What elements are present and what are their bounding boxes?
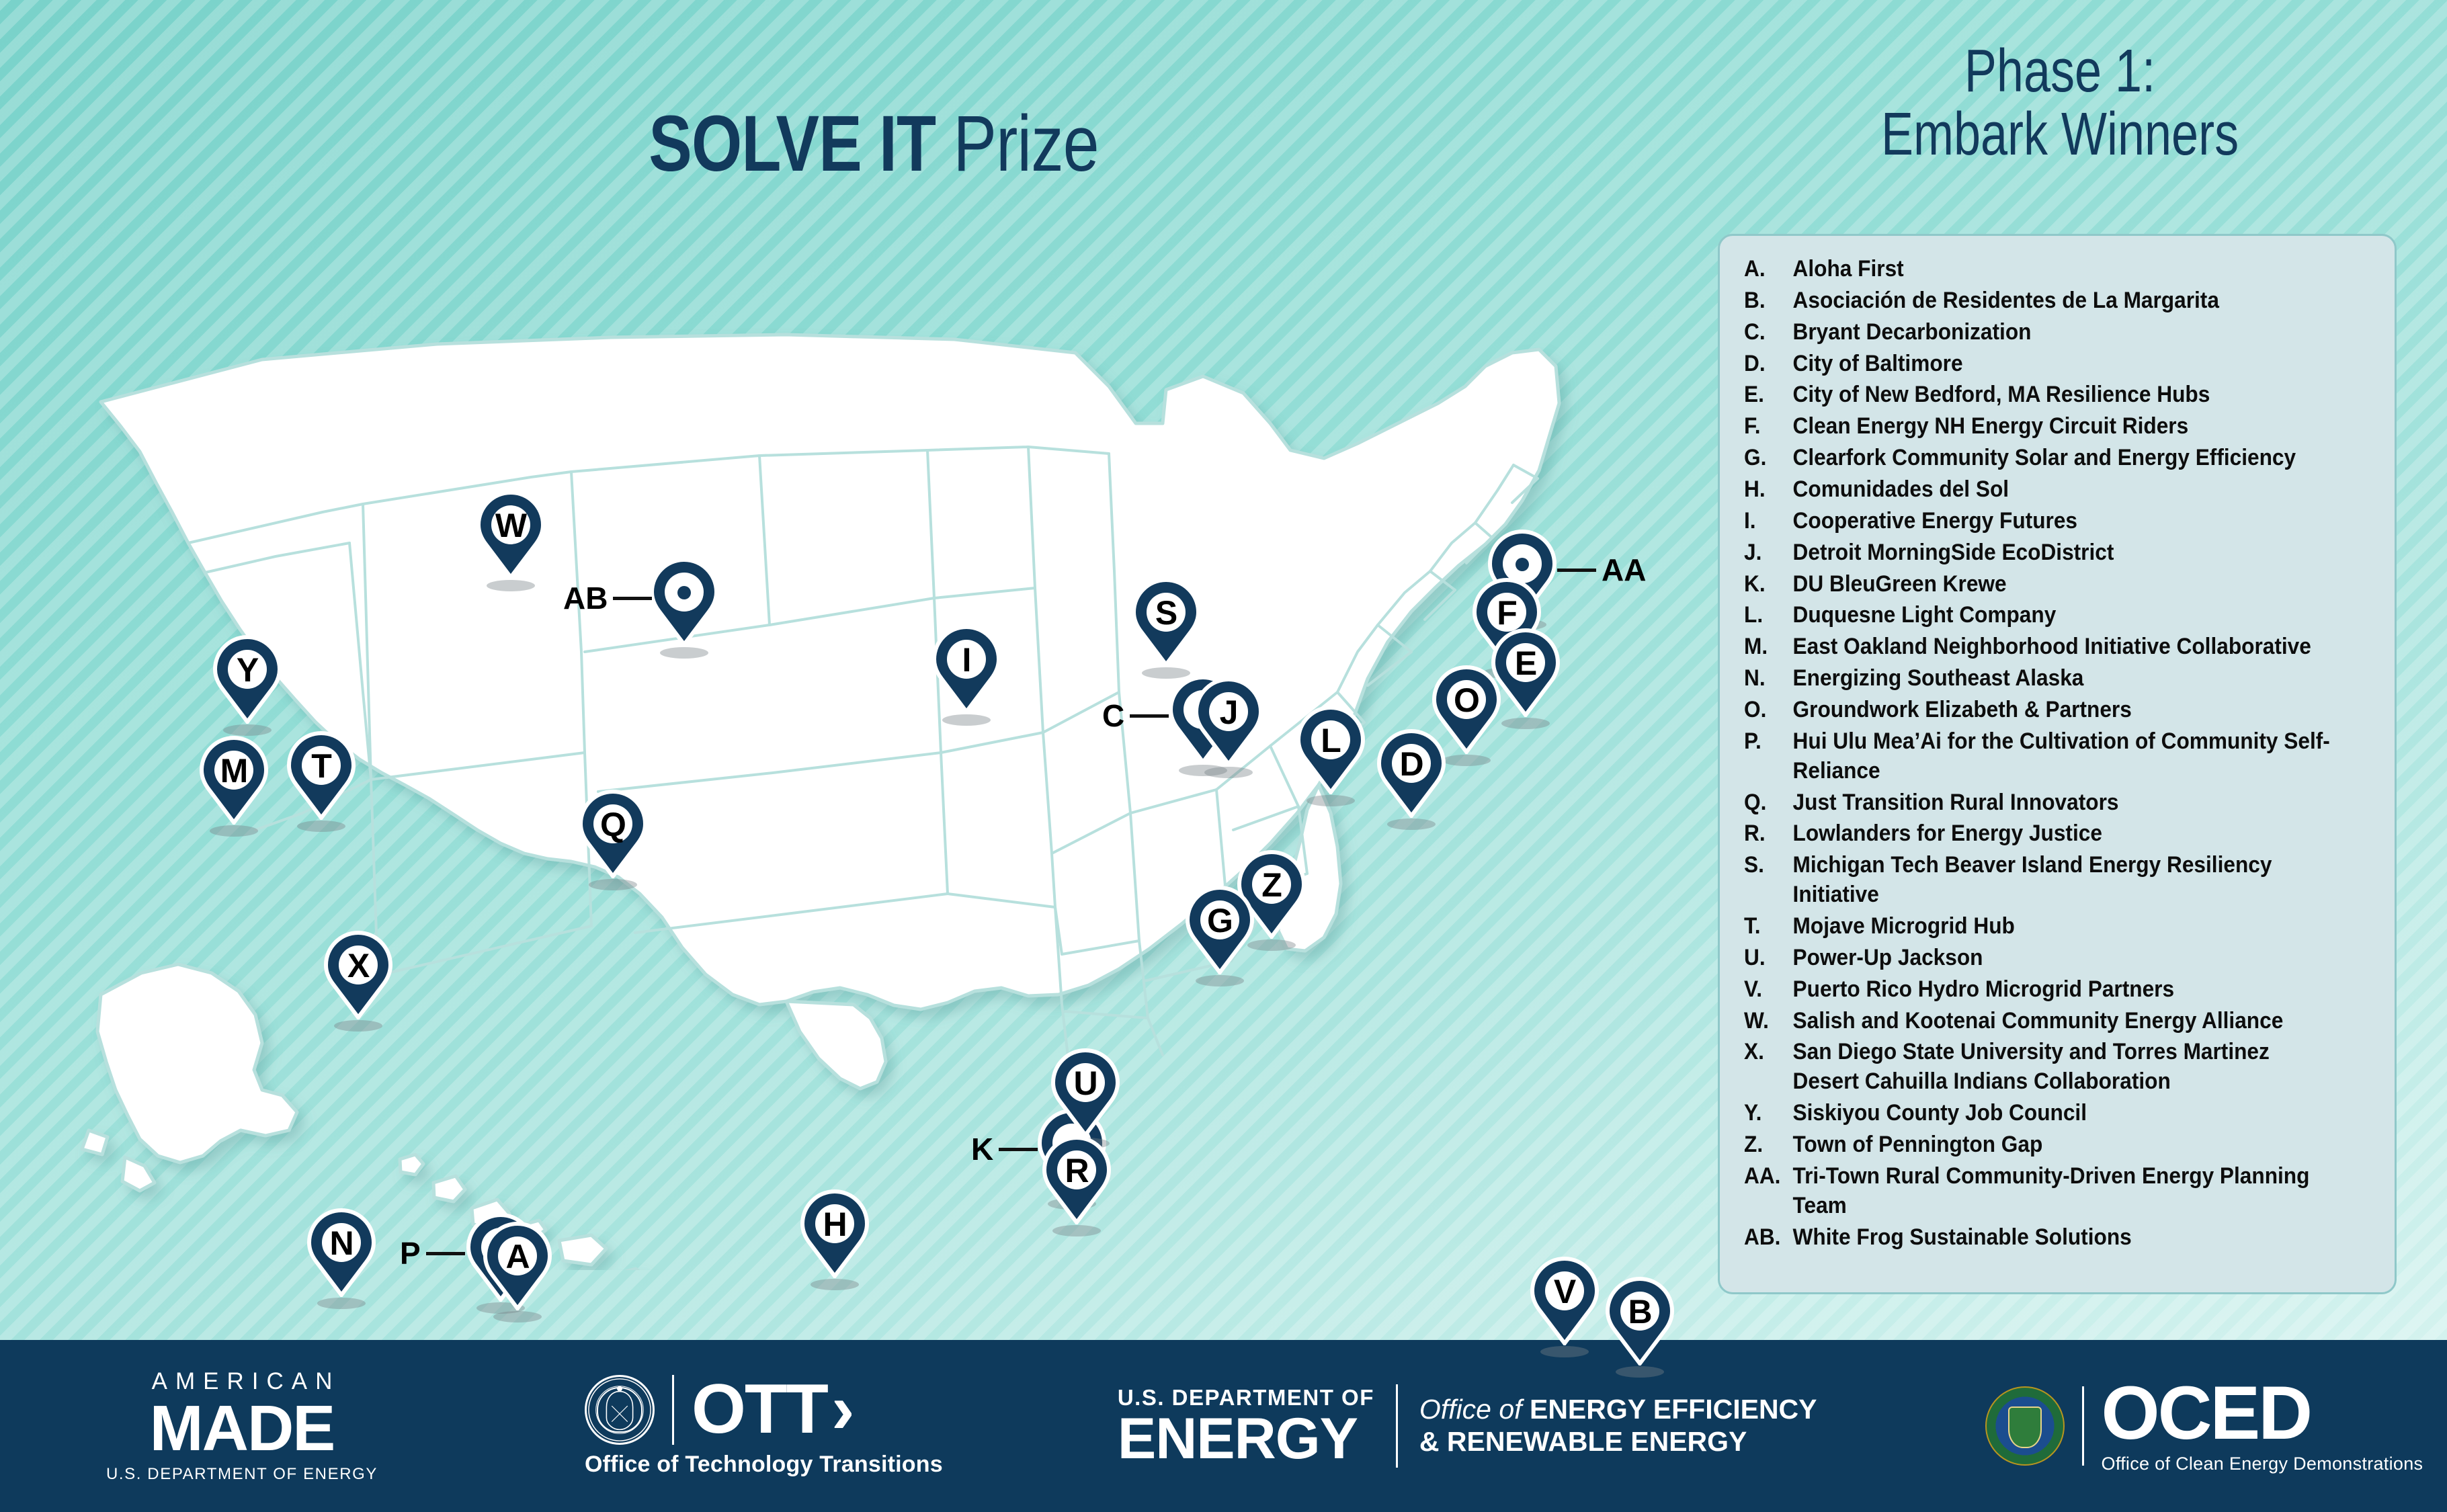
legend-item: S.Michigan Tech Beaver Island Energy Res… <box>1744 851 2330 910</box>
eere-office-bold-2: & RENEWABLE ENERGY <box>1419 1426 1817 1458</box>
map-pin-shadow <box>1616 1366 1664 1378</box>
map-pin-shadow <box>493 1311 542 1322</box>
legend-item-label: Puerto Rico Hydro Microgrid Partners <box>1793 975 2331 1005</box>
map-pin-external-label-k: K <box>971 1134 1038 1165</box>
map-pin-letter: O <box>1432 665 1501 735</box>
legend-item: K.DU BleuGreen Krewe <box>1744 570 2330 599</box>
legend-item-key: H. <box>1744 475 1793 505</box>
map-pin-shadow <box>1052 1225 1101 1236</box>
map-pin-g[interactable]: G <box>1185 886 1255 980</box>
legend-item-key: Y. <box>1744 1099 1793 1128</box>
legend-item-key: X. <box>1744 1038 1793 1067</box>
map-pin-shadow <box>1307 795 1355 806</box>
legend-item: U.Power-Up Jackson <box>1744 943 2330 973</box>
map-pin-letter: U <box>1050 1048 1120 1118</box>
map-pin-shadow <box>210 825 258 837</box>
map-pin-shadow <box>660 647 708 659</box>
legend-item: H.Comunidades del Sol <box>1744 475 2330 505</box>
legend-item-label: Groundwork Elizabeth & Partners <box>1793 696 2331 725</box>
legend-item-key: D. <box>1744 349 1793 379</box>
legend-item-key: AA. <box>1744 1162 1793 1191</box>
map-pin-letter: T <box>286 731 356 801</box>
winners-list: A.Aloha FirstB.Asociación de Residentes … <box>1744 255 2374 1253</box>
legend-item-key: F. <box>1744 412 1793 442</box>
map-pin-leader-line <box>999 1148 1038 1151</box>
legend-item-label: DU BleuGreen Krewe <box>1793 570 2331 599</box>
map-pin-external-label-text: AB <box>563 583 608 614</box>
map-pin-shadow <box>1204 767 1253 778</box>
map-pin-shadow <box>1501 718 1550 729</box>
legend-item-key: Z. <box>1744 1130 1793 1160</box>
legend-item: AB.White Frog Sustainable Solutions <box>1744 1223 2330 1253</box>
ott-divider <box>672 1375 674 1445</box>
legend-item-label: Hui Ulu Mea’Ai for the Cultivation of Co… <box>1793 727 2331 786</box>
map-pin-x[interactable]: X <box>323 931 393 1025</box>
logo-american-made: AMERICAN MADE U.S. DEPARTMENT OF ENERGY <box>101 1368 383 1484</box>
legend-item: AA.Tri-Town Rural Community-Driven Energ… <box>1744 1162 2330 1221</box>
legend-item-label: Clean Energy NH Energy Circuit Riders <box>1793 412 2331 442</box>
legend-item-key: G. <box>1744 444 1793 473</box>
map-pin-shadow <box>1196 975 1244 986</box>
legend-item-label: Aloha First <box>1793 255 2331 284</box>
map-pin-a[interactable]: A <box>483 1222 552 1316</box>
legend-item-label: Salish and Kootenai Community Energy All… <box>1793 1007 2331 1036</box>
legend-item: M.East Oakland Neighborhood Initiative C… <box>1744 632 2330 662</box>
map-pin-letter: H <box>800 1189 870 1259</box>
map-pin-shadow <box>1387 818 1436 830</box>
footer-logo-bar: AMERICAN MADE U.S. DEPARTMENT OF ENERGY <box>0 1340 2447 1512</box>
map-pin-u[interactable]: U <box>1050 1048 1120 1142</box>
map-pin-q[interactable]: Q <box>578 790 648 884</box>
logo-ott: OTT› Office of Technology Transitions <box>585 1375 943 1478</box>
legend-item: V.Puerto Rico Hydro Microgrid Partners <box>1744 975 2330 1005</box>
legend-item-key: V. <box>1744 975 1793 1005</box>
legend-item-key: U. <box>1744 943 1793 973</box>
legend-item-key: AB. <box>1744 1223 1793 1253</box>
map-pin-i[interactable]: I <box>931 625 1001 719</box>
legend-item-key: Q. <box>1744 788 1793 818</box>
legend-item: Q.Just Transition Rural Innovators <box>1744 788 2330 818</box>
american-made-sub: U.S. DEPARTMENT OF ENERGY <box>101 1465 383 1484</box>
legend-item-label: Duquesne Light Company <box>1793 601 2331 630</box>
page-title: SOLVE IT Prize <box>565 104 1182 183</box>
legend-item: L.Duquesne Light Company <box>1744 601 2330 630</box>
map-pin-letter: R <box>1042 1136 1112 1206</box>
map-pin-shadow <box>1442 755 1491 766</box>
legend-item: B.Asociación de Residentes de La Margari… <box>1744 286 2330 316</box>
legend-item-key: B. <box>1744 286 1793 316</box>
infographic-canvas: SOLVE IT Prize Phase 1: Embark Winners <box>0 0 2447 1512</box>
legend-item-label: Michigan Tech Beaver Island Energy Resil… <box>1793 851 2331 910</box>
legend-item-label: East Oakland Neighborhood Initiative Col… <box>1793 632 2331 662</box>
map-pin-letter: J <box>1194 677 1263 747</box>
oced-divider <box>2082 1386 2084 1466</box>
legend-item: Y.Siskiyou County Job Council <box>1744 1099 2330 1128</box>
map-pin-letter: Q <box>578 790 648 859</box>
legend-item-label: Siskiyou County Job Council <box>1793 1099 2331 1128</box>
legend-item-key: P. <box>1744 727 1793 757</box>
map-pin-j[interactable]: J <box>1194 677 1263 771</box>
legend-item: N.Energizing Southeast Alaska <box>1744 664 2330 694</box>
legend-item-key: I. <box>1744 507 1793 536</box>
legend-item: Z.Town of Pennington Gap <box>1744 1130 2330 1160</box>
map-pin-d[interactable]: D <box>1376 729 1446 823</box>
map-pin-external-label-text: P <box>400 1238 421 1269</box>
map-pin-shadow <box>942 714 991 726</box>
map-pin-shadow <box>334 1020 382 1032</box>
american-made-wordmark: MADE <box>101 1396 383 1461</box>
map-pin-letter: G <box>1185 886 1255 956</box>
map-pin-letter: W <box>476 491 546 560</box>
oced-subtitle: Office of Clean Energy Demonstrations <box>2102 1454 2423 1474</box>
map-pin-shadow <box>1142 667 1190 679</box>
map-pin-leader-line <box>426 1252 465 1255</box>
legend-item-key: C. <box>1744 318 1793 347</box>
map-pin-letter: A <box>483 1222 552 1292</box>
phase-title-line1: Phase 1: <box>1788 40 2331 103</box>
map-pin-letter: B <box>1605 1277 1675 1347</box>
legend-item: P.Hui Ulu Mea’Ai for the Cultivation of … <box>1744 727 2330 786</box>
legend-item-key: L. <box>1744 601 1793 630</box>
phase-title-line2: Embark Winners <box>1788 103 2331 167</box>
legend-item-label: Asociación de Residentes de La Margarita <box>1793 286 2331 316</box>
map-pin-r[interactable]: R <box>1042 1136 1112 1230</box>
legend-item: G.Clearfork Community Solar and Energy E… <box>1744 444 2330 473</box>
legend-item-label: Town of Pennington Gap <box>1793 1130 2331 1160</box>
map-pin-n[interactable]: N <box>306 1208 376 1302</box>
map-pin-external-label-c: C <box>1102 700 1169 731</box>
legend-item-label: Detroit MorningSide EcoDistrict <box>1793 538 2331 568</box>
legend-item-label: Lowlanders for Energy Justice <box>1793 819 2331 849</box>
legend-item: T.Mojave Microgrid Hub <box>1744 912 2330 941</box>
legend-item-label: San Diego State University and Torres Ma… <box>1793 1038 2331 1097</box>
map-pin-y[interactable]: Y <box>212 635 282 729</box>
map-pin-m[interactable]: M <box>199 736 269 830</box>
legend-item: F.Clean Energy NH Energy Circuit Riders <box>1744 412 2330 442</box>
legend-item: I.Cooperative Energy Futures <box>1744 507 2330 536</box>
map-pin-external-label-text: K <box>971 1134 993 1165</box>
winners-legend-panel: A.Aloha FirstB.Asociación de Residentes … <box>1718 234 2397 1294</box>
legend-item-key: E. <box>1744 380 1793 410</box>
legend-item-label: Power-Up Jackson <box>1793 943 2331 973</box>
legend-item-key: K. <box>1744 570 1793 599</box>
legend-item-key: M. <box>1744 632 1793 662</box>
map-pin-h[interactable]: H <box>800 1189 870 1284</box>
map-pin-shadow <box>487 580 535 591</box>
legend-item-key: N. <box>1744 664 1793 694</box>
legend-item-key: O. <box>1744 696 1793 725</box>
map-pin-letter <box>649 558 719 628</box>
logo-oced: OCED Office of Clean Energy Demonstratio… <box>1985 1378 2423 1474</box>
legend-item-key: T. <box>1744 912 1793 941</box>
eere-divider <box>1396 1384 1398 1468</box>
map-pin-letter: D <box>1376 729 1446 799</box>
map-pin-leader-line <box>1130 714 1169 718</box>
legend-item: X.San Diego State University and Torres … <box>1744 1038 2330 1097</box>
american-made-top: AMERICAN <box>101 1368 383 1395</box>
map-pin-letter: L <box>1296 706 1366 775</box>
legend-item-key: S. <box>1744 851 1793 880</box>
map-pin-ab[interactable] <box>649 558 719 652</box>
map-pin-shadow <box>317 1298 366 1309</box>
map-pin-shadow <box>223 724 272 736</box>
legend-item-label: White Frog Sustainable Solutions <box>1793 1223 2331 1253</box>
map-pin-s[interactable]: S <box>1131 578 1201 672</box>
map-pin-letter: S <box>1131 578 1201 648</box>
legend-item: D.City of Baltimore <box>1744 349 2330 379</box>
map-pin-leader-line <box>1557 569 1596 572</box>
us-map: WABYSAAFEIMTCJOLDQZGXUKRNPAHVB <box>60 222 1694 1270</box>
legend-item-label: City of Baltimore <box>1793 349 2331 379</box>
map-pin-leader-line <box>613 597 652 600</box>
doe-seal-color-icon <box>1985 1386 2065 1466</box>
map-pin-shadow <box>811 1279 859 1290</box>
legend-item-label: Cooperative Energy Futures <box>1793 507 2331 536</box>
map-pin-letter: M <box>199 736 269 806</box>
legend-item: C.Bryant Decarbonization <box>1744 318 2330 347</box>
legend-item-label: Clearfork Community Solar and Energy Eff… <box>1793 444 2331 473</box>
map-pin-shadow <box>1540 1346 1589 1357</box>
doe-seal-icon <box>585 1375 655 1445</box>
legend-item-key: W. <box>1744 1007 1793 1036</box>
eere-office-bold-1: ENERGY EFFICIENCY <box>1530 1394 1817 1425</box>
map-pin-letter: N <box>306 1208 376 1278</box>
ott-acronym: OTT <box>692 1370 827 1448</box>
map-pin-shadow <box>297 821 345 832</box>
map-pin-letter: Y <box>212 635 282 705</box>
map-pin-v[interactable]: V <box>1530 1257 1600 1351</box>
ott-wordmark: OTT› <box>692 1376 854 1443</box>
legend-item-label: Mojave Microgrid Hub <box>1793 912 2331 941</box>
legend-item: E.City of New Bedford, MA Resilience Hub… <box>1744 380 2330 410</box>
legend-item: R.Lowlanders for Energy Justice <box>1744 819 2330 849</box>
map-pin-t[interactable]: T <box>286 731 356 825</box>
page-title-bold: SOLVE IT <box>649 99 936 188</box>
legend-item-key: J. <box>1744 538 1793 568</box>
legend-item-label: Tri-Town Rural Community-Driven Energy P… <box>1793 1162 2331 1221</box>
map-pin-b[interactable]: B <box>1605 1277 1675 1371</box>
page-title-light: Prize <box>953 99 1098 188</box>
ott-chevron-icon: › <box>831 1376 854 1443</box>
map-pin-external-label-p: P <box>400 1238 465 1269</box>
legend-item: J.Detroit MorningSide EcoDistrict <box>1744 538 2330 568</box>
map-pin-w[interactable]: W <box>476 491 546 585</box>
map-pin-letter: X <box>323 931 393 1001</box>
logo-eere: U.S. DEPARTMENT OF ENERGY Office of ENER… <box>1118 1384 1817 1468</box>
legend-item-label: Just Transition Rural Innovators <box>1793 788 2331 818</box>
oced-wordmark: OCED <box>2102 1378 2423 1449</box>
legend-item: A.Aloha First <box>1744 255 2330 284</box>
legend-item: W.Salish and Kootenai Community Energy A… <box>1744 1007 2330 1036</box>
legend-item-label: Comunidades del Sol <box>1793 475 2331 505</box>
legend-item-label: City of New Bedford, MA Resilience Hubs <box>1793 380 2331 410</box>
legend-item-label: Bryant Decarbonization <box>1793 318 2331 347</box>
phase-title: Phase 1: Embark Winners <box>1788 40 2331 166</box>
legend-item-label: Energizing Southeast Alaska <box>1793 664 2331 694</box>
map-pin-external-label-text: AA <box>1602 554 1646 585</box>
eere-office-italic: Office of <box>1419 1394 1522 1425</box>
map-pin-letter: V <box>1530 1257 1600 1327</box>
map-pin-l[interactable]: L <box>1296 706 1366 800</box>
map-pin-letter: I <box>931 625 1001 695</box>
legend-item: O.Groundwork Elizabeth & Partners <box>1744 696 2330 725</box>
map-pin-external-label-aa: AA <box>1557 554 1646 585</box>
legend-item-key: R. <box>1744 819 1793 849</box>
ott-subtitle: Office of Technology Transitions <box>585 1452 943 1478</box>
legend-item-key: A. <box>1744 255 1793 284</box>
map-pin-external-label-ab: AB <box>563 583 652 614</box>
map-pin-external-label-text: C <box>1102 700 1124 731</box>
eere-doe-wordmark: ENERGY <box>1118 1411 1374 1467</box>
map-pin-shadow <box>589 879 637 890</box>
